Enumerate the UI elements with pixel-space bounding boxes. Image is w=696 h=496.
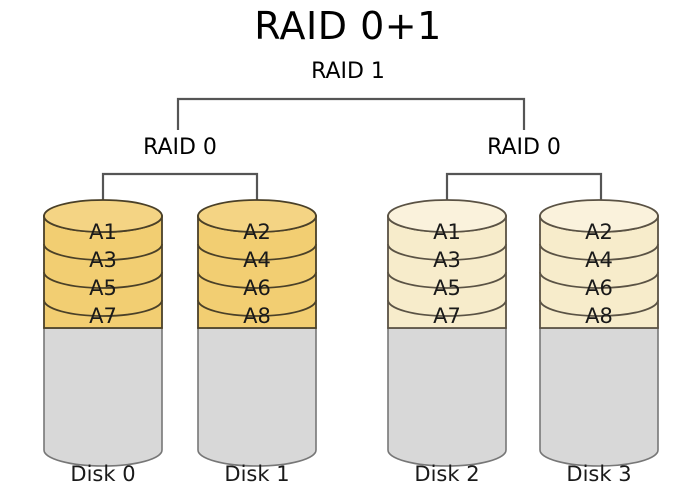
disk-top-cap	[44, 200, 162, 232]
disk-3[interactable]: A2A4A6A8Disk 3	[540, 0, 658, 496]
disk-cylinder	[388, 198, 506, 460]
disk-top-cap	[540, 200, 658, 232]
disk-free-space	[388, 328, 506, 466]
raid-diagram-canvas: RAID 0+1 RAID 1 RAID 0 RAID 0 A1A3A5A7Di…	[0, 0, 696, 496]
disk-cylinder	[198, 198, 316, 460]
disk-free-space	[44, 328, 162, 466]
disk-name-label: Disk 2	[388, 462, 506, 486]
disk-free-space	[540, 328, 658, 466]
disk-0[interactable]: A1A3A5A7Disk 0	[44, 0, 162, 496]
disk-cylinder	[44, 198, 162, 460]
disk-2[interactable]: A1A3A5A7Disk 2	[388, 0, 506, 496]
disk-top-cap	[198, 200, 316, 232]
disk-1[interactable]: A2A4A6A8Disk 1	[198, 0, 316, 496]
disk-name-label: Disk 0	[44, 462, 162, 486]
disk-name-label: Disk 3	[540, 462, 658, 486]
disk-top-cap	[388, 200, 506, 232]
disk-name-label: Disk 1	[198, 462, 316, 486]
disk-free-space	[198, 328, 316, 466]
disk-cylinder	[540, 198, 658, 460]
